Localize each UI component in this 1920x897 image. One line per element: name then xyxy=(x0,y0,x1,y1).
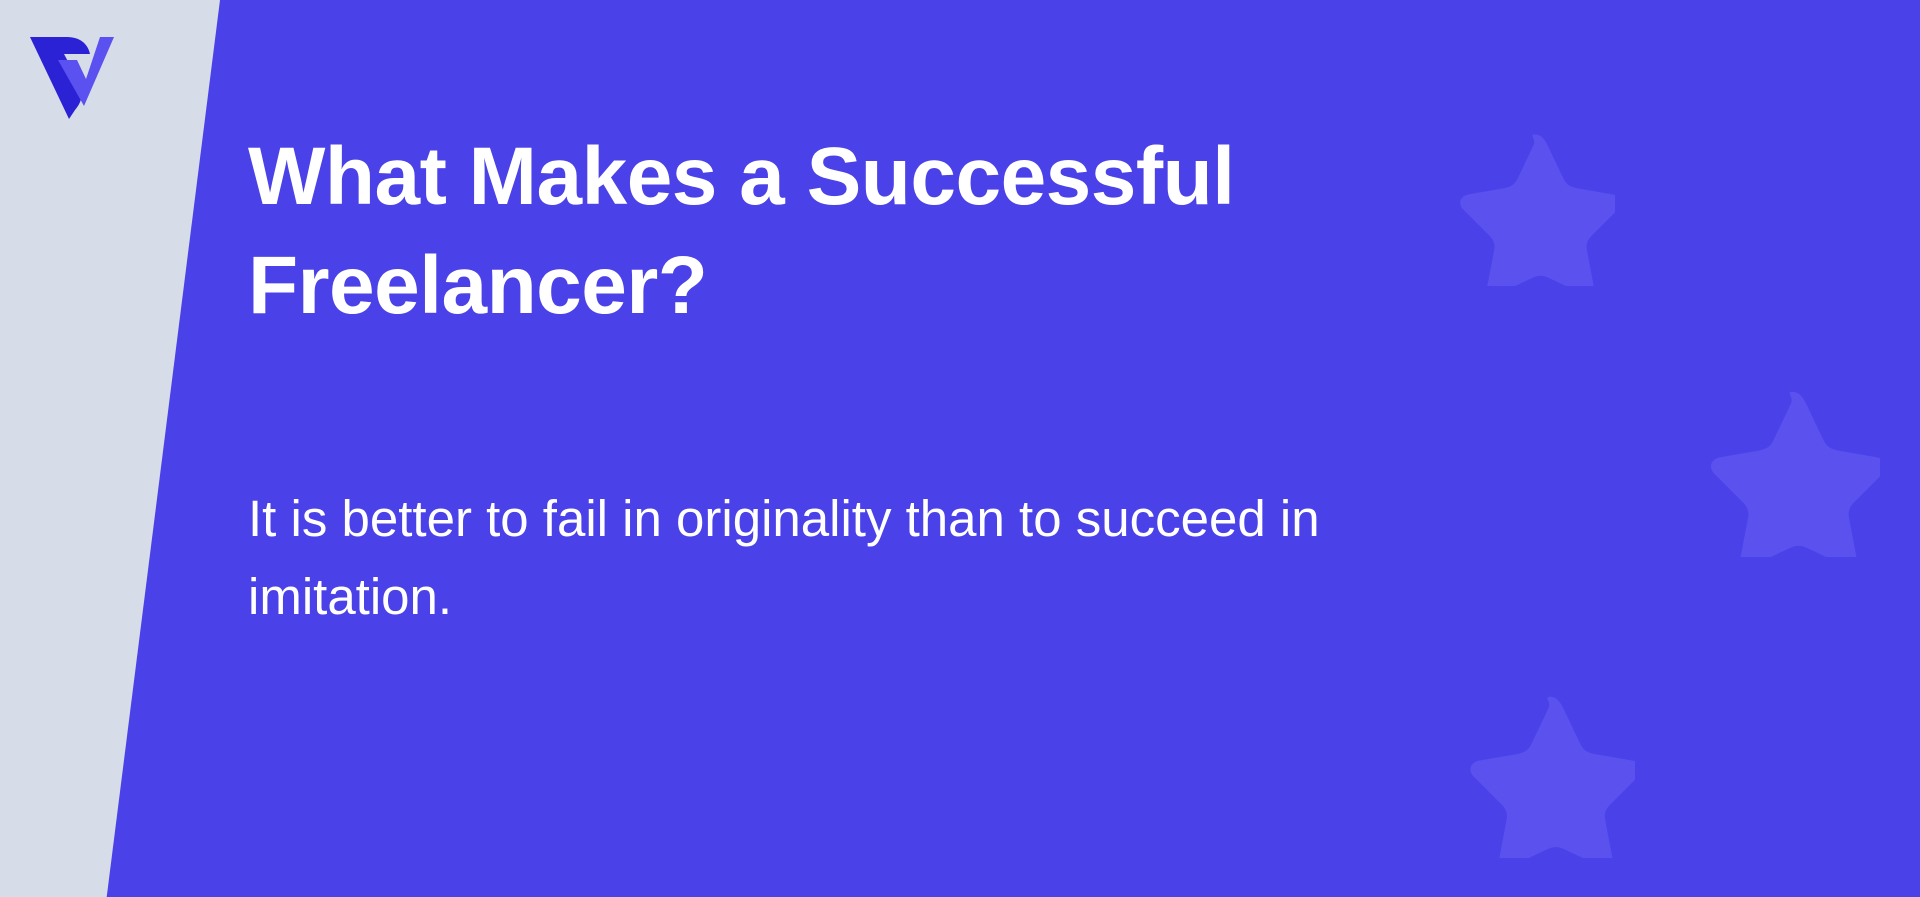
hero-subtitle: It is better to fail in originality than… xyxy=(248,480,1498,635)
left-accent-panel xyxy=(0,0,220,897)
hero-banner: What Makes a Successful Freelancer? It i… xyxy=(0,0,1920,897)
brand-logo xyxy=(22,24,122,124)
hero-content: What Makes a Successful Freelancer? It i… xyxy=(248,0,1768,897)
page-title: What Makes a Successful Freelancer? xyxy=(248,122,1538,340)
